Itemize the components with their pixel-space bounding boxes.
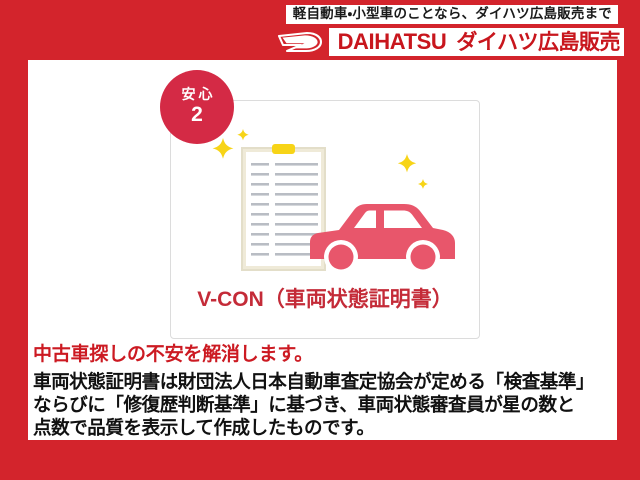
brand-logo: DAIHATSU ダイハツ広島販売 <box>271 28 624 56</box>
logo-wordmark: DAIHATSU <box>329 31 457 53</box>
description-line: 車両状態証明書は財団法人日本自動車査定協会が定める「検査基準」 <box>33 370 613 393</box>
description-line: 点数で品質を表示して作成したものです。 <box>33 416 613 439</box>
sparkle-icon <box>213 138 234 159</box>
red-car-icon <box>310 204 455 274</box>
daihatsu-d-emblem-icon <box>271 28 329 56</box>
description-headline: 中古車探しの不安を解消します。 <box>33 343 613 367</box>
anshin-badge-label: 安心 <box>179 87 216 102</box>
header-tagline: 軽自動車・小型車のことなら、ダイハツ広島販売まで <box>293 7 612 21</box>
description-line: ならびに「修復歴判断基準」に基づき、車両状態審査員が星の数と <box>33 393 613 416</box>
brand-header: 軽自動車・小型車のことなら、ダイハツ広島販売まで DAIHATSU ダイハツ広島… <box>0 0 640 60</box>
promo-banner: 軽自動車・小型車のことなら、ダイハツ広島販売まで DAIHATSU ダイハツ広島… <box>0 0 640 480</box>
sparkle-icon <box>418 179 428 189</box>
anshin-badge-number: 2 <box>191 103 203 127</box>
anshin-badge: 安心 2 <box>160 70 234 144</box>
sparkle-icon <box>237 129 248 140</box>
vcon-caption: V-CON（車両状態証明書） <box>171 283 479 313</box>
description-body: 車両状態証明書は財団法人日本自動車査定協会が定める「検査基準」 ならびに「修復歴… <box>33 370 613 439</box>
description-block: 中古車探しの不安を解消します。 車両状態証明書は財団法人日本自動車査定協会が定め… <box>33 343 613 439</box>
sparkle-icon <box>398 154 416 172</box>
logo-japanese-name: ダイハツ広島販売 <box>456 32 622 53</box>
header-tagline-box: 軽自動車・小型車のことなら、ダイハツ広島販売まで <box>286 5 618 24</box>
